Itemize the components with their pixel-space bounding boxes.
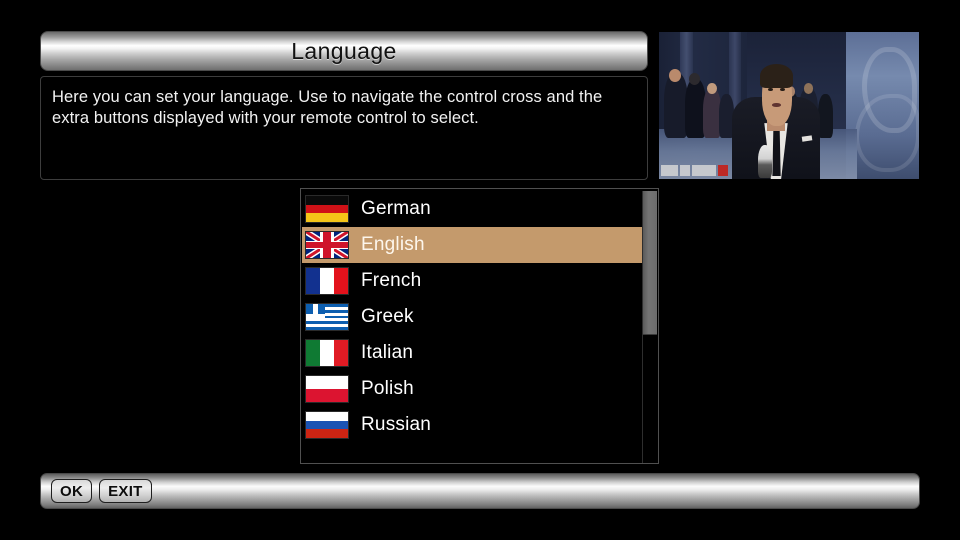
greece-flag-icon: [305, 303, 349, 331]
exit-button[interactable]: EXIT: [99, 479, 152, 503]
russia-flag-icon: [305, 411, 349, 439]
video-reporter-tie: [772, 129, 780, 176]
italy-flag-icon: [305, 339, 349, 367]
list-item-label: Russian: [361, 414, 431, 436]
bottom-softkey-bar: OK EXIT: [40, 473, 920, 509]
description-panel: Here you can set your language. Use to n…: [40, 76, 648, 180]
list-item-label: Polish: [361, 378, 414, 400]
list-item-german[interactable]: German: [302, 191, 644, 227]
poland-flag-icon: [305, 375, 349, 403]
list-item-french[interactable]: French: [302, 263, 644, 299]
list-item-label: Greek: [361, 306, 414, 328]
language-list: German English French: [302, 191, 644, 443]
page-title: Language: [291, 38, 397, 65]
logo-block: [661, 165, 678, 176]
list-item-label: French: [361, 270, 421, 292]
list-item-english[interactable]: English: [302, 227, 644, 263]
video-reporter-eye: [780, 88, 785, 91]
video-crowd-head: [804, 83, 813, 93]
list-item-label: English: [361, 234, 425, 256]
video-decor-panel: [846, 32, 919, 179]
exit-button-label: EXIT: [108, 483, 143, 500]
ok-button-label: OK: [60, 483, 83, 500]
list-item-label: German: [361, 198, 431, 220]
tv-settings-screen: Language Here you can set your language.…: [0, 0, 960, 540]
united-kingdom-flag-icon: [305, 231, 349, 259]
video-reporter-microphone: [758, 145, 772, 177]
list-item-label: Italian: [361, 342, 413, 364]
logo-block: [680, 165, 690, 176]
list-scrollbar[interactable]: [642, 191, 656, 463]
live-tv-preview[interactable]: [658, 31, 920, 180]
title-bar: Language: [40, 31, 648, 71]
france-flag-icon: [305, 267, 349, 295]
video-crowd-head: [689, 73, 700, 85]
logo-block-accent: [718, 165, 728, 176]
video-crowd-head: [707, 83, 717, 94]
ok-button[interactable]: OK: [51, 479, 92, 503]
german-flag-icon: [305, 195, 349, 223]
list-item-greek[interactable]: Greek: [302, 299, 644, 335]
logo-block: [692, 165, 716, 176]
list-item-russian[interactable]: Russian: [302, 407, 644, 443]
list-item-polish[interactable]: Polish: [302, 371, 644, 407]
video-crowd-head: [669, 69, 681, 82]
video-reporter-eye: [768, 88, 773, 91]
news-channel-logo: [661, 164, 728, 177]
description-text: Here you can set your language. Use to n…: [52, 87, 636, 129]
language-list-panel[interactable]: German English French: [300, 188, 659, 464]
list-item-italian[interactable]: Italian: [302, 335, 644, 371]
scrollbar-thumb[interactable]: [643, 191, 657, 335]
video-reporter-hair: [760, 64, 793, 88]
